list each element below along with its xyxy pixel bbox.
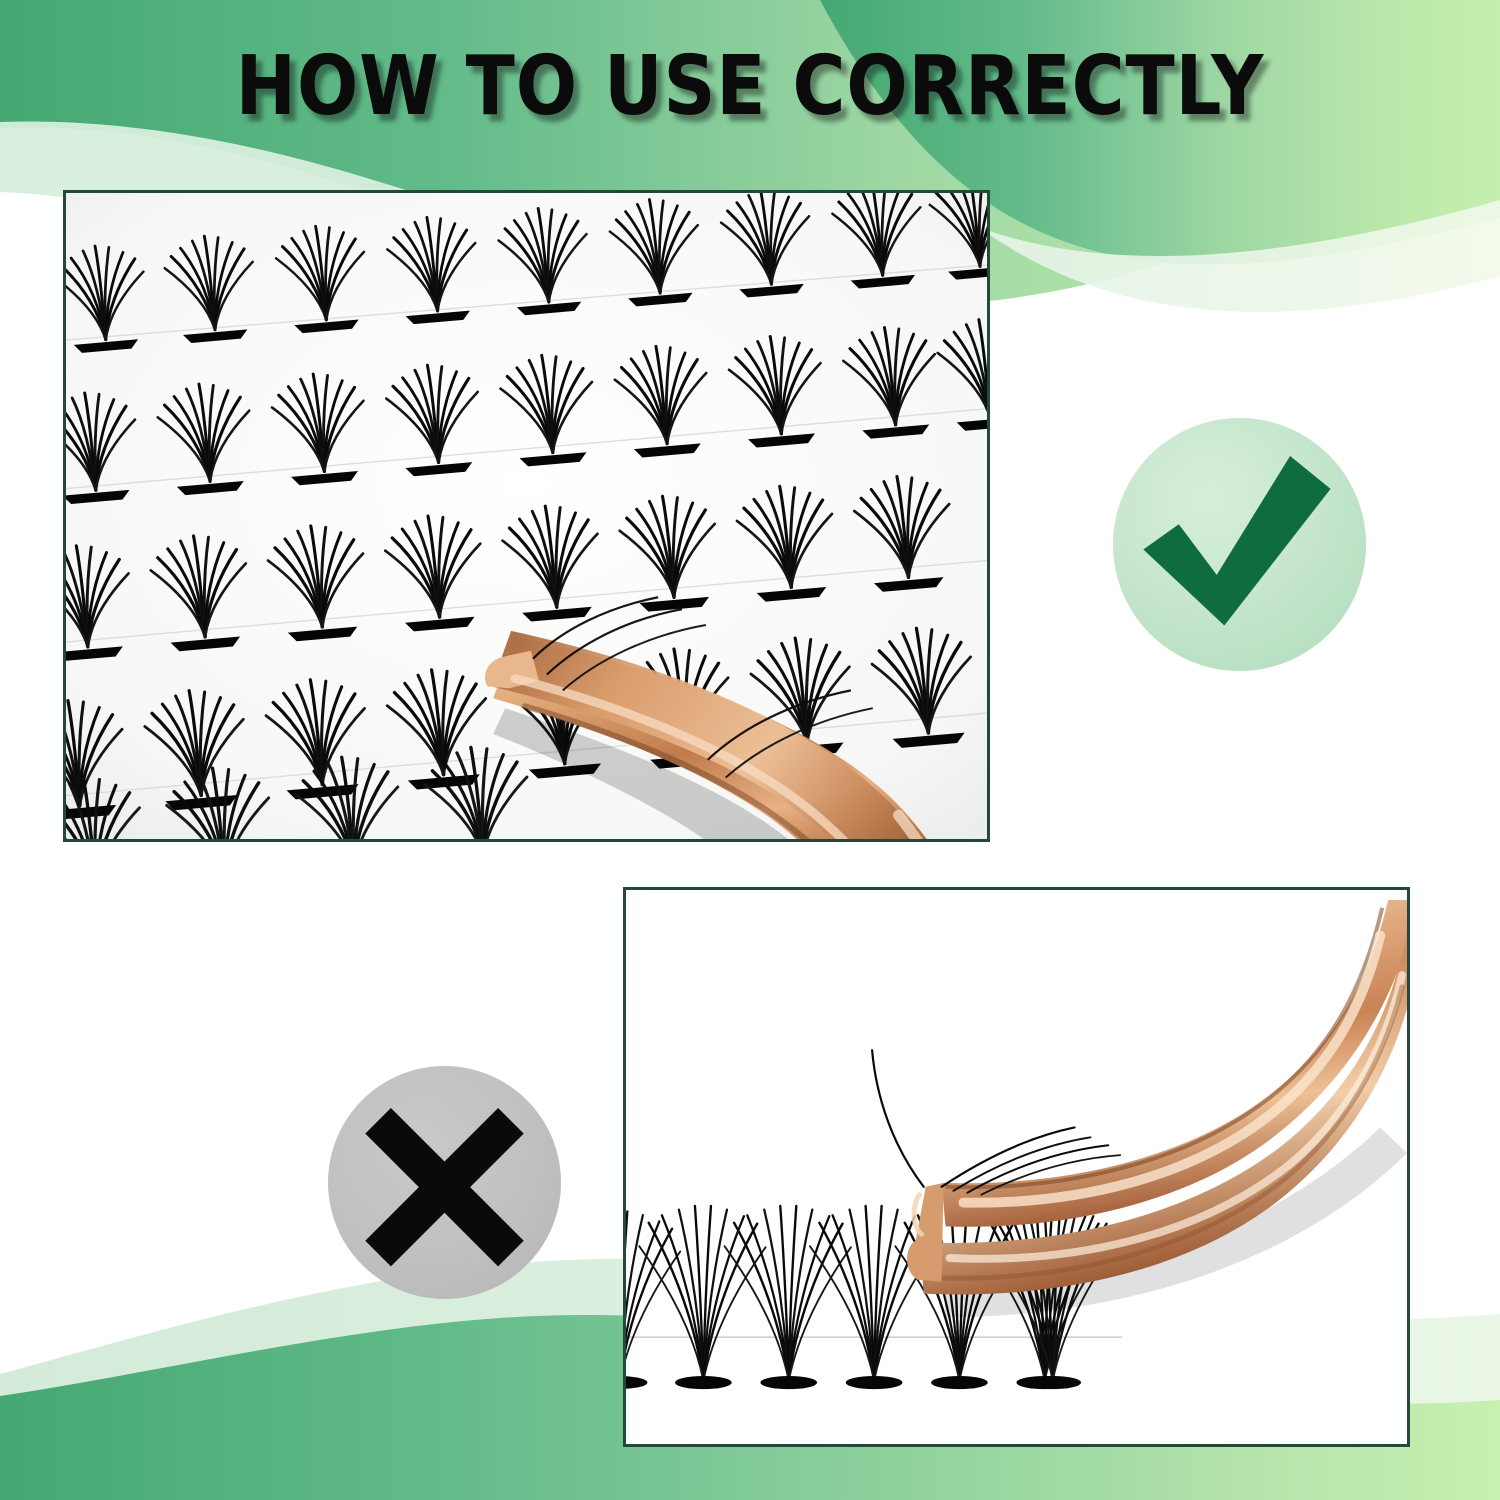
infographic-canvas: HOW TO USE CORRECTLY [0,0,1500,1500]
incorrect-usage-photo [623,887,1410,1447]
incorrect-badge [328,1066,561,1299]
check-icon [1113,418,1366,671]
correct-usage-photo-inner [66,193,987,839]
correct-badge [1113,418,1366,671]
correct-usage-photo [63,190,990,842]
incorrect-usage-photo-inner [626,890,1407,1444]
header-wave-soft-right [980,200,1500,312]
cross-icon [328,1066,561,1299]
page-title: HOW TO USE CORRECTLY [90,46,1410,128]
